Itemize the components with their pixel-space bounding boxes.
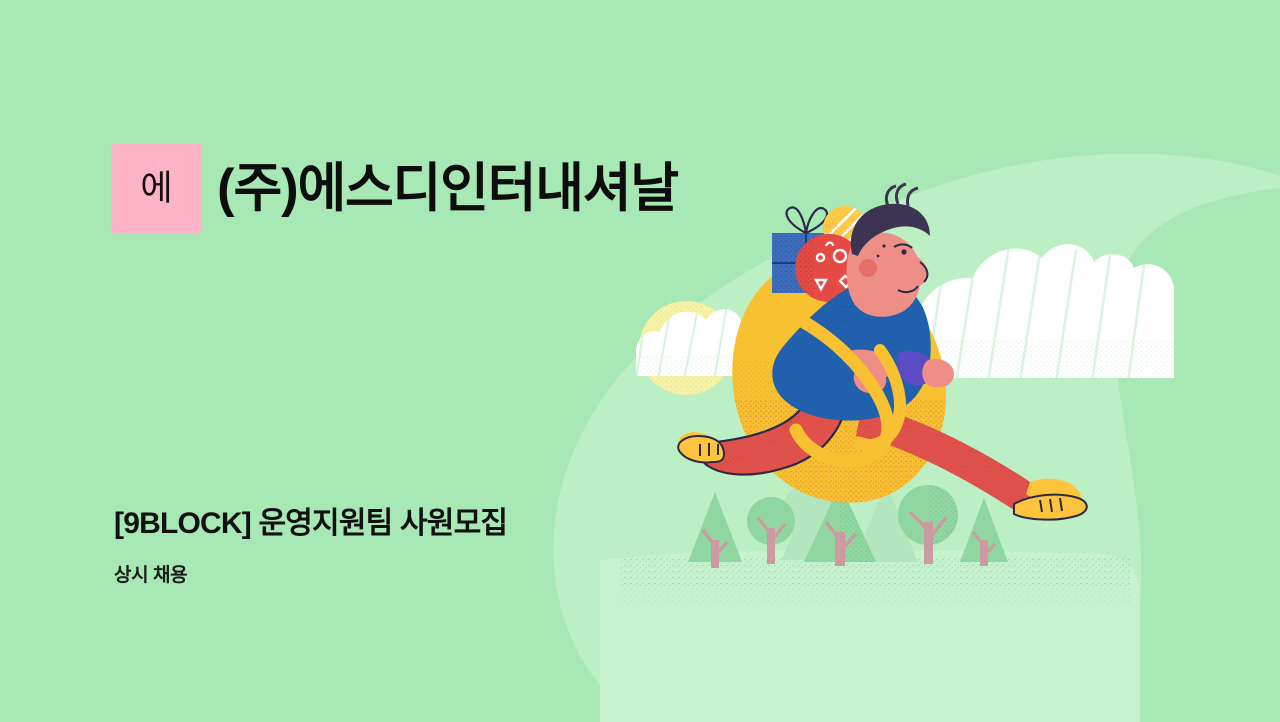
job-status: 상시 채용: [114, 565, 507, 588]
sun-icon: [639, 301, 733, 395]
red-patterned-ball: [793, 232, 863, 304]
company-name: (주)에스디인터내셔날: [217, 162, 678, 215]
gift-sack: [720, 266, 960, 520]
tree: [804, 484, 876, 566]
company-logo-badge: 에: [111, 144, 202, 233]
company-header: 에 (주)에스디인터내셔날: [111, 126, 678, 250]
runner-front-leg: [678, 392, 846, 475]
tree: [898, 485, 958, 564]
runner-torso: [772, 280, 930, 421]
sack-strap: [792, 316, 900, 461]
runner-arm: [786, 324, 954, 394]
runner-head: [847, 184, 931, 317]
tree: [688, 492, 742, 568]
company-badge-letter: 에: [140, 171, 172, 206]
tree-group: [688, 482, 1008, 568]
yellow-striped-ball: [820, 206, 870, 254]
cloud-left: [630, 298, 780, 380]
card-background: [0, 0, 1280, 722]
tree: [747, 497, 795, 564]
striped-yellow-disc: [830, 247, 900, 298]
cloud-right: [910, 240, 1190, 382]
runner-back-leg: [856, 404, 1087, 520]
gift-box: [772, 207, 840, 293]
ground: [600, 550, 1140, 722]
illustration-canvas: [0, 0, 1280, 722]
job-title: [9BLOCK] 운영지원팀 사원모집: [114, 505, 507, 543]
job-info: [9BLOCK] 운영지원팀 사원모집 상시 채용: [114, 505, 507, 587]
tree: [960, 498, 1008, 566]
job-posting-card: 에 (주)에스디인터내셔날 [9BLOCK] 운영지원팀 사원모집 상시 채용: [0, 0, 1280, 722]
